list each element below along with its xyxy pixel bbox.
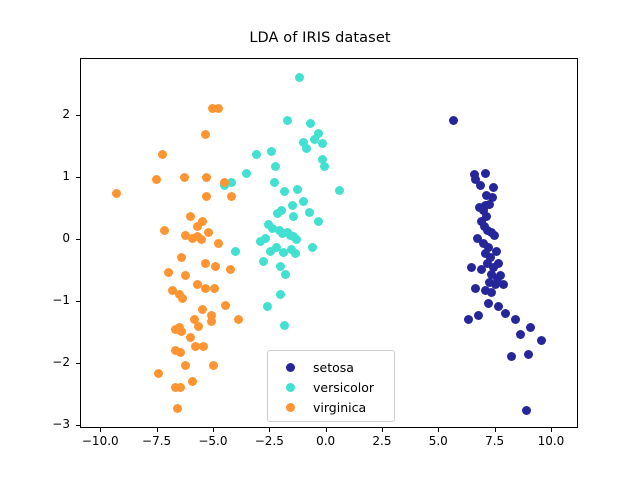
data-point-setosa [499, 280, 508, 289]
legend-marker-icon [286, 363, 295, 372]
data-point-versicolor [252, 150, 261, 159]
data-point-virginica [188, 377, 197, 386]
data-point-virginica [226, 265, 235, 274]
data-point-virginica [180, 173, 189, 182]
data-point-setosa [501, 309, 510, 318]
data-point-virginica [209, 361, 218, 370]
data-point-virginica [160, 226, 169, 235]
x-tick [100, 428, 101, 432]
data-point-versicolor [288, 201, 297, 210]
data-point-versicolor [256, 237, 265, 246]
data-point-virginica [178, 294, 187, 303]
data-point-virginica [214, 239, 223, 248]
legend-marker-icon [286, 383, 295, 392]
matplotlib-figure: LDA of IRIS dataset setosaversicolorvirg… [0, 0, 640, 480]
data-point-versicolor [302, 144, 311, 153]
data-point-virginica [234, 315, 243, 324]
data-point-setosa [481, 169, 490, 178]
y-tick-label: 1 [10, 169, 70, 183]
data-point-setosa [487, 288, 496, 297]
data-point-versicolor [242, 169, 251, 178]
legend-item-versicolor[interactable]: versicolor [276, 377, 386, 397]
data-point-versicolor [335, 186, 344, 195]
data-point-setosa [524, 350, 533, 359]
data-point-versicolor [267, 147, 276, 156]
data-point-setosa [526, 323, 535, 332]
data-point-virginica [199, 342, 208, 351]
data-point-versicolor [295, 73, 304, 82]
y-tick [76, 363, 80, 364]
x-tick [157, 428, 158, 432]
legend-item-label: virginica [313, 400, 366, 415]
data-point-virginica [201, 284, 210, 293]
data-point-setosa [507, 352, 516, 361]
data-point-setosa [490, 231, 499, 240]
data-point-setosa [496, 271, 505, 280]
data-point-virginica [207, 317, 216, 326]
data-point-virginica [186, 333, 195, 342]
legend[interactable]: setosaversicolorvirginica [267, 350, 395, 422]
data-point-setosa [482, 212, 491, 221]
data-point-versicolor [305, 208, 314, 217]
data-point-setosa [467, 263, 476, 272]
x-tick [495, 428, 496, 432]
y-tick [76, 425, 80, 426]
data-point-versicolor [314, 217, 323, 226]
data-point-setosa [449, 116, 458, 125]
data-point-virginica [181, 271, 190, 280]
data-point-versicolor [318, 139, 327, 148]
data-point-virginica [221, 301, 230, 310]
data-point-setosa [464, 315, 473, 324]
data-point-setosa [477, 265, 486, 274]
legend-item-label: versicolor [313, 380, 374, 395]
data-point-versicolor [308, 243, 317, 252]
data-point-setosa [537, 336, 546, 345]
data-point-virginica [197, 235, 206, 244]
data-point-virginica [186, 212, 195, 221]
data-point-virginica [220, 178, 229, 187]
data-point-virginica [176, 383, 185, 392]
data-point-virginica [214, 104, 223, 113]
y-tick-label: 0 [10, 231, 70, 245]
data-point-setosa [471, 284, 480, 293]
data-point-versicolor [259, 257, 268, 266]
data-point-versicolor [280, 321, 289, 330]
data-point-virginica [176, 348, 185, 357]
data-point-versicolor [299, 197, 308, 206]
legend-item-setosa[interactable]: setosa [276, 357, 386, 377]
data-point-versicolor [263, 302, 272, 311]
y-tick [76, 301, 80, 302]
x-tick [326, 428, 327, 432]
data-point-versicolor [280, 187, 289, 196]
x-tick-label: 10.0 [516, 434, 586, 448]
data-point-virginica [152, 175, 161, 184]
data-point-setosa [488, 193, 497, 202]
data-point-virginica [210, 284, 219, 293]
data-point-virginica [158, 150, 167, 159]
data-point-virginica [211, 262, 220, 271]
data-point-virginica [201, 130, 210, 139]
data-point-versicolor [292, 235, 301, 244]
data-point-virginica [202, 192, 211, 201]
data-point-setosa [522, 406, 531, 415]
data-point-versicolor [231, 247, 240, 256]
data-point-versicolor [276, 290, 285, 299]
data-point-virginica [201, 259, 210, 268]
x-tick [213, 428, 214, 432]
y-tick-label: −3 [10, 417, 70, 431]
data-point-versicolor [281, 270, 290, 279]
data-point-setosa [476, 181, 485, 190]
y-tick [76, 177, 80, 178]
page-title: LDA of IRIS dataset [0, 30, 640, 46]
data-point-virginica [202, 173, 211, 182]
data-point-versicolor [293, 185, 302, 194]
x-tick [269, 428, 270, 432]
y-tick [76, 239, 80, 240]
x-tick [551, 428, 552, 432]
y-tick-label: −1 [10, 293, 70, 307]
data-point-virginica [177, 327, 186, 336]
data-point-versicolor [271, 162, 280, 171]
data-point-versicolor [283, 116, 292, 125]
data-point-virginica [194, 322, 203, 331]
data-point-setosa [474, 311, 483, 320]
legend-marker-icon [286, 403, 295, 412]
data-point-virginica [164, 268, 173, 277]
data-point-virginica [177, 253, 186, 262]
x-tick [382, 428, 383, 432]
y-tick [76, 115, 80, 116]
data-point-versicolor [289, 212, 298, 221]
data-point-setosa [494, 259, 503, 268]
data-point-versicolor [270, 178, 279, 187]
data-point-versicolor [273, 209, 282, 218]
x-tick [438, 428, 439, 432]
data-point-virginica [154, 369, 163, 378]
legend-item-virginica[interactable]: virginica [276, 397, 386, 417]
data-point-virginica [227, 192, 236, 201]
data-point-virginica [204, 228, 213, 237]
data-point-setosa [492, 247, 501, 256]
data-point-setosa [511, 315, 520, 324]
data-point-versicolor [306, 119, 315, 128]
data-point-versicolor [320, 162, 329, 171]
data-point-setosa [489, 183, 498, 192]
data-point-virginica [198, 217, 207, 226]
legend-item-label: setosa [313, 360, 354, 375]
data-point-setosa [516, 330, 525, 339]
data-point-virginica [198, 305, 207, 314]
y-tick-label: 2 [10, 107, 70, 121]
data-point-virginica [181, 361, 190, 370]
data-point-virginica [112, 189, 121, 198]
data-point-versicolor [291, 249, 300, 258]
data-point-virginica [173, 404, 182, 413]
y-tick-label: −2 [10, 355, 70, 369]
data-point-setosa [484, 299, 493, 308]
